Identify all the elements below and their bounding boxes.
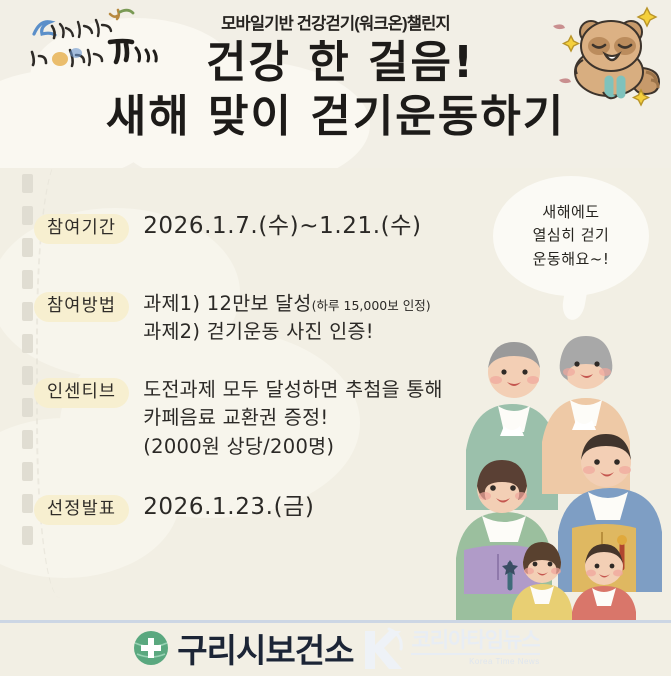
value-participation-method: 과제1) 12만보 달성(하루 15,000보 인정) 과제2) 걷기운동 사진…	[143, 290, 430, 347]
label-result-announcement: 선정발표	[34, 495, 129, 525]
raccoon-mascot-icon	[547, 2, 667, 110]
korea-time-news-watermark: 코리아타임뉴스 Korea Time News	[359, 627, 539, 669]
value-participation-period: 2026.1.7.(수)~1.21.(수)	[143, 212, 421, 241]
guri-city-logo	[14, 6, 164, 72]
poster-footer: 구리시보건소 코리아타임뉴스 Korea Time News	[0, 620, 671, 676]
label-participation-period: 참여기간	[34, 214, 129, 244]
poster-body: 새해에도 열심히 걷기 운동해요~! 참여기간 2026.1.7.(수)~1.2…	[0, 168, 671, 620]
incentive-line-1: 도전과제 모두 달성하면 추첨을 통해	[143, 376, 443, 404]
row-incentive: 인센티브 도전과제 모두 달성하면 추첨을 통해 카페음료 교환권 증정! (2…	[34, 376, 443, 461]
method-task-1-main: 과제1) 12만보 달성	[143, 292, 311, 315]
ktn-english-name: Korea Time News	[411, 657, 539, 666]
value-result-announcement: 2026.1.23.(금)	[143, 493, 314, 522]
label-participation-method: 참여방법	[34, 292, 129, 322]
incentive-line-2: 카페음료 교환권 증정!	[143, 404, 443, 432]
row-result-announcement: 선정발표 2026.1.23.(금)	[34, 493, 314, 525]
ktn-text-block: 코리아타임뉴스 Korea Time News	[411, 630, 539, 666]
method-task-2-line: 과제2) 걷기운동 사진 인증!	[143, 318, 430, 346]
ktn-korean-name: 코리아타임뉴스	[411, 630, 539, 655]
speech-bubble-text: 새해에도 열심히 걷기 운동해요~!	[533, 201, 610, 271]
poster-root: 모바일기반 건강걷기(워크온)챌린지 건강 한 걸음! 새해 맞이 걷기운동하기	[0, 0, 671, 676]
row-participation-period: 참여기간 2026.1.7.(수)~1.21.(수)	[34, 212, 422, 244]
incentive-line-3: (2000원 상당/200명)	[143, 433, 443, 461]
bubble-line-2: 열심히 걷기	[533, 226, 610, 244]
decorative-film-strip	[22, 168, 34, 598]
ktn-k-logo-icon	[359, 627, 407, 669]
row-participation-method: 참여방법 과제1) 12만보 달성(하루 15,000보 인정) 과제2) 걷기…	[34, 290, 431, 347]
speech-bubble: 새해에도 열심히 걷기 운동해요~!	[493, 176, 649, 296]
bubble-line-1: 새해에도	[542, 203, 599, 221]
korean-family-hanbok-illustration	[446, 310, 671, 620]
method-task-1-note: (하루 15,000보 인정)	[312, 298, 431, 313]
value-incentive: 도전과제 모두 달성하면 추첨을 통해 카페음료 교환권 증정! (2000원 …	[143, 376, 443, 461]
poster-header: 모바일기반 건강걷기(워크온)챌린지 건강 한 걸음! 새해 맞이 걷기운동하기	[0, 0, 671, 168]
footer-top-hairline	[0, 620, 671, 623]
label-incentive: 인센티브	[34, 378, 129, 408]
method-task-1-line: 과제1) 12만보 달성(하루 15,000보 인정)	[143, 290, 430, 318]
health-center-cross-icon	[131, 628, 171, 668]
health-center-name: 구리시보건소	[177, 624, 353, 672]
bubble-line-3: 운동해요~!	[533, 250, 610, 268]
